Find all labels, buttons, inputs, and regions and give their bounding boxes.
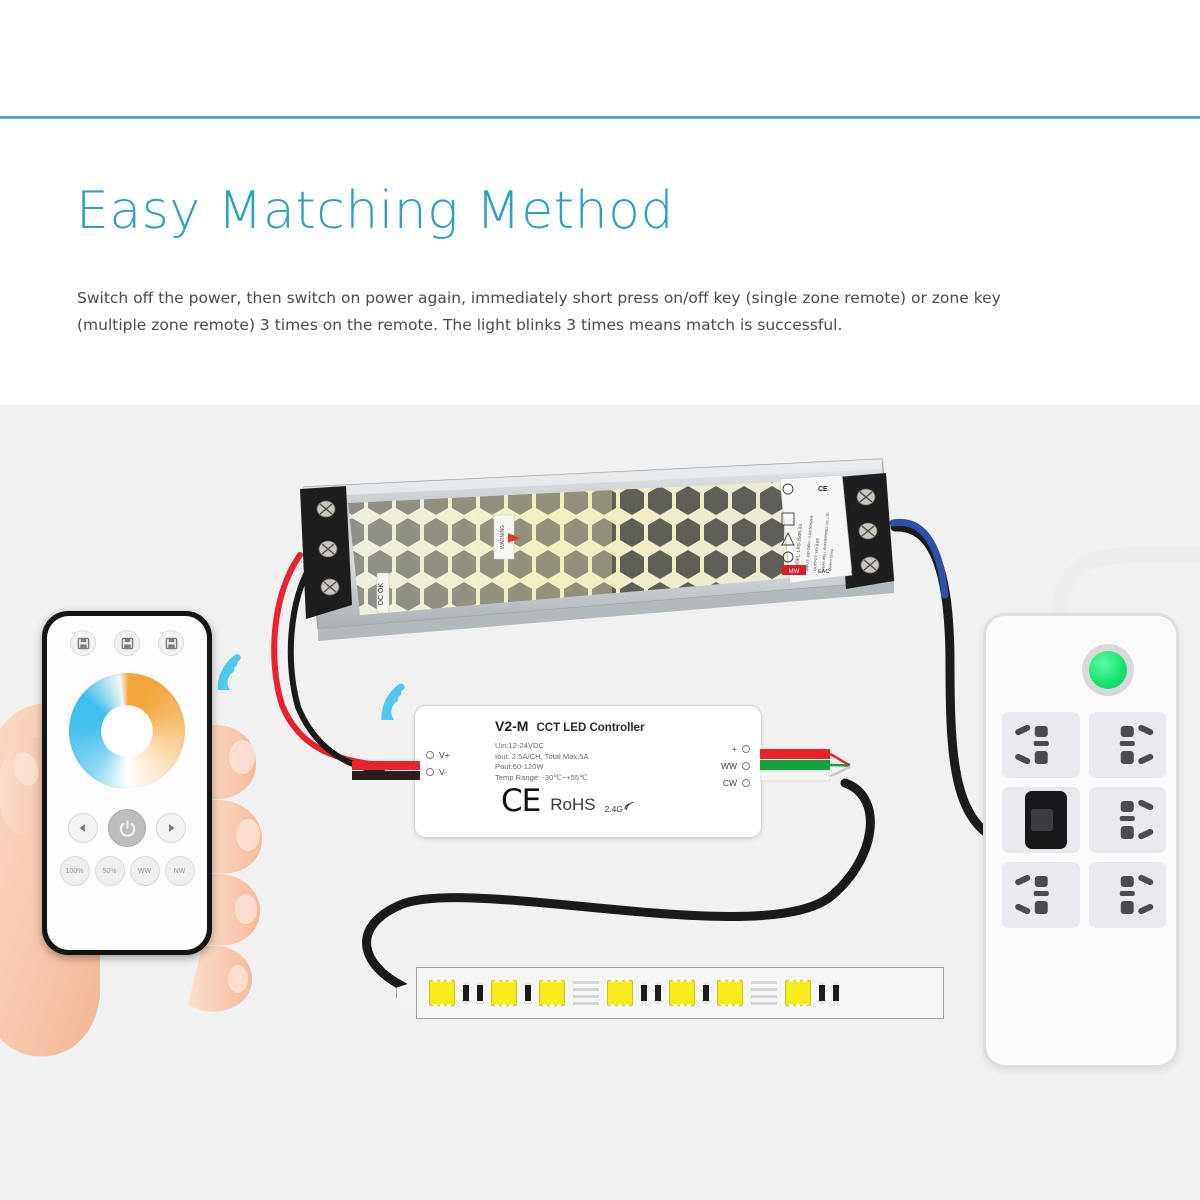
intro-paragraph: Switch off the power, then switch on pow… bbox=[77, 285, 1037, 339]
preset-50-button[interactable]: 50% bbox=[95, 856, 125, 886]
save-icon bbox=[121, 637, 134, 650]
controller-output-terminals: + WW CW bbox=[721, 744, 750, 795]
resistor bbox=[477, 982, 483, 1004]
power-button[interactable] bbox=[108, 809, 146, 847]
terminal-cw: CW bbox=[723, 778, 750, 788]
cct-wheel-center bbox=[104, 708, 150, 754]
terminal-plus-label: + bbox=[732, 744, 737, 754]
ce-mark-icon: CE bbox=[501, 786, 540, 817]
intro-line-2: (multiple zone remote) 3 times on the re… bbox=[77, 312, 1037, 339]
power-strip bbox=[983, 613, 1179, 1068]
psu-spec-label: MODEL: LRS-200R-24 INPUT: 100-240V~ 2.6A… bbox=[780, 475, 852, 583]
terminal-plus: + bbox=[732, 744, 750, 754]
svg-text:GND: GND bbox=[850, 569, 857, 581]
previous-button[interactable] bbox=[68, 813, 98, 843]
resistor bbox=[703, 982, 709, 1004]
socket-face-icon bbox=[1089, 787, 1167, 853]
socket-face-icon bbox=[1002, 712, 1080, 778]
terminal-v-plus: V+ bbox=[426, 750, 450, 760]
svg-text:ACL: ACL bbox=[850, 503, 857, 513]
power-icon bbox=[118, 819, 137, 838]
remote-save-row bbox=[47, 630, 207, 656]
resistor bbox=[833, 982, 839, 1004]
dc-ok-label: DC OK bbox=[377, 573, 389, 613]
socket-grid bbox=[1002, 712, 1166, 928]
resistor bbox=[463, 982, 469, 1004]
save-button-3[interactable] bbox=[158, 630, 184, 656]
rf-wave-icon bbox=[623, 800, 635, 810]
hand-holding-remote: 100% 50% WW NW bbox=[0, 635, 300, 1065]
spec-uin: Uin:12-24VDC bbox=[495, 741, 589, 752]
band-text: 2.4G bbox=[605, 804, 623, 814]
terminal-cw-label: CW bbox=[723, 778, 737, 788]
save-icon bbox=[165, 637, 178, 650]
socket-outlet[interactable] bbox=[1089, 787, 1167, 853]
led-chip bbox=[539, 980, 565, 1006]
led-chip bbox=[491, 980, 517, 1006]
power-indicator bbox=[1082, 644, 1134, 696]
header-band: Easy Matching Method Switch off the powe… bbox=[0, 0, 1200, 405]
terminal-v-minus: V- bbox=[426, 767, 450, 777]
led-strip bbox=[416, 967, 944, 1019]
controller-kind: CCT LED Controller bbox=[536, 722, 644, 734]
svg-text:WARNING: WARNING bbox=[500, 525, 506, 549]
socket-face-icon bbox=[1089, 862, 1167, 928]
terminal-dot-icon bbox=[426, 768, 434, 776]
svg-text:MW: MW bbox=[789, 569, 800, 575]
led-chip bbox=[717, 980, 743, 1006]
preset-ww-button[interactable]: WW bbox=[130, 856, 160, 886]
controller-specs: Uin:12-24VDC Iout: 2.5A/CH, Total Max.5A… bbox=[495, 741, 589, 784]
accent-divider bbox=[0, 116, 1200, 119]
resistor bbox=[819, 982, 825, 1004]
ac-plug[interactable] bbox=[1025, 791, 1067, 849]
psu-dc-terminal-block bbox=[300, 486, 352, 619]
controller-title: V2-MCCT LED Controller bbox=[495, 718, 644, 736]
controller-input-wire-stubs bbox=[352, 757, 422, 785]
preset-100-button[interactable]: 100% bbox=[60, 856, 90, 886]
product-diagram-photo: WARNING DC OK bbox=[0, 405, 1200, 1200]
socket-outlet[interactable] bbox=[1089, 712, 1167, 778]
controller-model: V2-M bbox=[495, 718, 528, 734]
socket-outlet[interactable] bbox=[1089, 862, 1167, 928]
terminal-dot-icon bbox=[426, 751, 434, 759]
terminal-dot-icon bbox=[742, 745, 750, 753]
svg-text:EAC: EAC bbox=[818, 569, 829, 575]
svg-text:DC OK: DC OK bbox=[378, 583, 385, 606]
save-icon bbox=[77, 637, 90, 650]
led-chip bbox=[429, 980, 455, 1006]
socket-face-icon bbox=[1089, 712, 1167, 778]
rf-remote-control[interactable]: 100% 50% WW NW bbox=[42, 611, 212, 955]
terminal-v-minus-label: V- bbox=[439, 767, 447, 777]
svg-text:CE: CE bbox=[818, 486, 828, 493]
svg-text:ACN: ACN bbox=[850, 538, 857, 549]
socket-outlet[interactable] bbox=[1002, 862, 1080, 928]
cct-color-wheel[interactable] bbox=[69, 673, 185, 789]
terminal-ww-label: WW bbox=[721, 761, 737, 771]
resistor bbox=[525, 982, 531, 1004]
solder-pads bbox=[573, 981, 599, 1005]
terminal-dot-icon bbox=[742, 779, 750, 787]
preset-nw-button[interactable]: NW bbox=[165, 856, 195, 886]
power-indicator-light bbox=[1089, 651, 1127, 689]
remote-faceplate: 100% 50% WW NW bbox=[47, 616, 207, 950]
spec-pout: Pout:60-120W bbox=[495, 762, 589, 773]
led-chip bbox=[607, 980, 633, 1006]
save-button-1[interactable] bbox=[70, 630, 96, 656]
next-button[interactable] bbox=[156, 813, 186, 843]
led-chip bbox=[669, 980, 695, 1006]
rohs-label: RoHS bbox=[550, 795, 595, 815]
remote-preset-row: 100% 50% WW NW bbox=[47, 856, 207, 886]
band-label: 2.4G bbox=[605, 804, 623, 814]
chevron-left-icon bbox=[78, 823, 88, 833]
remote-control-row bbox=[47, 809, 207, 847]
socket-outlet-occupied[interactable] bbox=[1002, 787, 1080, 853]
resistor bbox=[655, 982, 661, 1004]
terminal-dot-icon bbox=[742, 762, 750, 770]
terminal-v-plus-label: V+ bbox=[439, 750, 450, 760]
page-title: Easy Matching Method bbox=[76, 181, 674, 241]
plug-body bbox=[1031, 809, 1053, 831]
strip-mains-cord bbox=[1060, 555, 1200, 613]
spec-iout: Iout: 2.5A/CH, Total Max.5A bbox=[495, 752, 589, 763]
chevron-right-icon bbox=[166, 823, 176, 833]
socket-outlet[interactable] bbox=[1002, 712, 1080, 778]
led-power-supply: WARNING DC OK bbox=[282, 453, 912, 653]
led-chip bbox=[785, 980, 811, 1006]
resistor bbox=[641, 982, 647, 1004]
save-button-2[interactable] bbox=[114, 630, 140, 656]
controller-input-terminals: V+ V- bbox=[426, 750, 450, 784]
socket-face-icon bbox=[1002, 862, 1080, 928]
controller-output-wire-stubs bbox=[760, 747, 852, 789]
solder-pads bbox=[751, 981, 777, 1005]
intro-line-1: Switch off the power, then switch on pow… bbox=[77, 285, 1037, 312]
terminal-ww: WW bbox=[721, 761, 750, 771]
cct-led-controller: V2-MCCT LED Controller Uin:12-24VDC Iout… bbox=[414, 705, 762, 838]
controller-certifications: CE RoHS 2.4G bbox=[501, 786, 623, 817]
